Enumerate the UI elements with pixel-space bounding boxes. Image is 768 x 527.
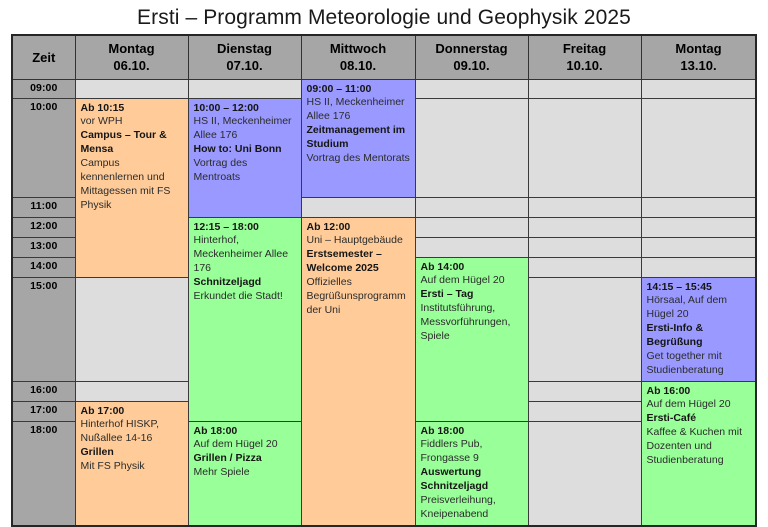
event-place: Auf dem Hügel 20 [194,438,297,452]
event-place: Auf dem Hügel 20 [421,274,524,288]
event-name: Grillen / Pizza [194,452,297,466]
column-header-montag-13: Montag 13.10. [641,35,756,79]
column-header-day-name: Dienstag [190,40,300,58]
event-name: Campus – Tour & Mensa [81,129,184,157]
event-name: Auswertung Schnitzeljagd [421,466,524,494]
event-desc: Vortrag des Mentroats [194,157,297,185]
event-place: vor WPH [81,115,184,129]
column-header-day-date: 08.10. [303,57,414,75]
column-header-day-name: Mittwoch [303,40,414,58]
cell-montag13-0900[interactable] [641,79,756,98]
event-montag06-campustour[interactable]: Ab 10:15 vor WPH Campus – Tour & Mensa C… [75,98,188,277]
event-name: Erstsemester – Welcome 2025 [307,248,411,276]
event-place: Hinterhof, Meckenheimer Allee 176 [194,234,297,276]
event-desc: Kaffee & Kuchen mit Dozenten und Studien… [647,426,752,468]
time-label-0900: 09:00 [12,79,75,98]
event-montag13-ersticafe[interactable]: Ab 16:00 Auf dem Hügel 20 Ersti-Café Kaf… [641,381,756,526]
event-dienstag07-auswertung[interactable]: Ab 18:00 Fiddlers Pub, Frongasse 9 Auswe… [415,421,528,526]
event-time: 14:15 – 15:45 [647,281,752,295]
cell-donnerstag09-1300[interactable] [415,237,528,257]
cell-montag13-1300[interactable] [641,237,756,257]
schedule-page: Ersti – Programm Meteorologie und Geophy… [0,0,768,527]
table-row: 09:00 09:00 – 11:00 HS II, Meckenheimer … [12,79,756,98]
time-label-1600: 16:00 [12,381,75,401]
event-name: Zeitmanagement im Studium [307,124,411,152]
schedule-table: Zeit Montag 06.10. Dienstag 07.10. Mittw… [11,34,757,527]
event-montag06-grillenpizza[interactable]: Ab 18:00 Auf dem Hügel 20 Grillen / Pizz… [188,421,301,526]
event-dienstag07-howtounibonn[interactable]: 10:00 – 12:00 HS II, Meckenheimer Allee … [188,98,301,217]
table-header-row: Zeit Montag 06.10. Dienstag 07.10. Mittw… [12,35,756,79]
event-desc: Offizielles Begrüßunsprogramm der Uni [307,276,411,318]
cell-mittwoch08-1100[interactable] [301,197,415,217]
cell-freitag10-1600[interactable] [528,381,641,401]
event-time: Ab 16:00 [647,385,752,399]
cell-freitag10-1400[interactable] [641,257,756,277]
cell-donnerstag09-1000[interactable] [415,98,528,197]
event-time: 09:00 – 11:00 [307,83,411,97]
time-label-1200: 12:00 [12,217,75,237]
event-time: Ab 12:00 [307,221,411,235]
cell-donnerstag09-1400[interactable] [528,257,641,277]
event-place: Hörsaal, Auf dem Hügel 20 [647,294,752,322]
column-header-montag-06: Montag 06.10. [75,35,188,79]
column-header-day-date: 13.10. [643,57,755,75]
event-place: Auf dem Hügel 20 [647,398,752,412]
cell-montag13-1100[interactable] [641,197,756,217]
event-place: Uni – Hauptgebäude [307,234,411,248]
cell-donnerstag09-1100[interactable] [415,197,528,217]
cell-donnerstag09-0900[interactable] [415,79,528,98]
cell-freitag10-1800[interactable] [528,421,641,526]
time-label-1500: 15:00 [12,277,75,381]
event-desc: Institutsführung, Messvorführungen, Spie… [421,302,524,344]
event-mittwoch-zeitmanagement[interactable]: 09:00 – 11:00 HS II, Meckenheimer Allee … [301,79,415,197]
event-montag06-erstitag[interactable]: Ab 14:00 Auf dem Hügel 20 Ersti – Tag In… [415,257,528,421]
time-label-1800: 18:00 [12,421,75,526]
cell-freitag10-1700[interactable] [528,401,641,421]
column-header-day-date: 10.10. [530,57,640,75]
event-time: Ab 18:00 [194,425,297,439]
event-name: Ersti-Café [647,412,752,426]
column-header-mittwoch-08: Mittwoch 08.10. [301,35,415,79]
cell-freitag10-1000[interactable] [528,98,641,197]
cell-montag13-1000[interactable] [641,98,756,197]
event-name: Grillen [81,446,184,460]
event-desc: Erkundet die Stadt! [194,290,297,304]
column-header-day-date: 07.10. [190,57,300,75]
column-header-day-name: Freitag [530,40,640,58]
cell-donnerstag09-1200[interactable] [415,217,528,237]
time-label-1400: 14:00 [12,257,75,277]
event-time: 12:15 – 18:00 [194,221,297,235]
column-header-dienstag-07: Dienstag 07.10. [188,35,301,79]
column-header-donnerstag-09: Donnerstag 09.10. [415,35,528,79]
event-montag13-erstiinfo[interactable]: 14:15 – 15:45 Hörsaal, Auf dem Hügel 20 … [641,277,756,381]
column-header-day-date: 06.10. [77,57,187,75]
cell-montag13-1200[interactable] [641,217,756,237]
event-name: Ersti-Info & Begrüßung [647,322,752,350]
cell-freitag10-0900[interactable] [528,79,641,98]
event-name: Schnitzeljagd [194,276,297,290]
event-mittwoch08-erstsemesterwelcome[interactable]: Ab 12:00 Uni – Hauptgebäude Erstsemester… [301,217,415,526]
event-place: HS II, Meckenheimer Allee 176 [194,115,297,143]
event-time: Ab 10:15 [81,102,184,116]
event-time: Ab 14:00 [421,261,524,275]
event-name: How to: Uni Bonn [194,143,297,157]
event-desc: Mehr Spiele [194,466,297,480]
event-place: Fiddlers Pub, Frongasse 9 [421,438,524,466]
column-header-zeit: Zeit [12,35,75,79]
column-header-day-name: Donnerstag [417,40,527,58]
cell-freitag10-1200[interactable] [528,217,641,237]
cell-freitag10-1100[interactable] [528,197,641,217]
cell-freitag10-1500[interactable] [528,277,641,381]
column-header-zeit-label: Zeit [14,49,74,67]
event-time: Ab 17:00 [81,405,184,419]
event-dienstag07-schnitzeljagd[interactable]: 12:15 – 18:00 Hinterhof, Meckenheimer Al… [188,217,301,421]
event-time: 10:00 – 12:00 [194,102,297,116]
event-desc: Campus kennenlernen und Mittagessen mit … [81,157,184,212]
event-desc: Preisverleihung, Kneipenabend [421,494,524,522]
event-donnerstag09-grillen[interactable]: Ab 17:00 Hinterhof HISKP, Nußallee 14-16… [75,401,188,526]
column-header-day-date: 09.10. [417,57,527,75]
time-label-1300: 13:00 [12,237,75,257]
event-place: HS II, Meckenheimer Allee 176 [307,96,411,124]
time-label-1000: 10:00 [12,98,75,197]
event-place: Hinterhof HISKP, Nußallee 14-16 [81,418,184,446]
time-label-1700: 17:00 [12,401,75,421]
page-title: Ersti – Programm Meteorologie und Geophy… [0,0,768,34]
event-time: Ab 18:00 [421,425,524,439]
event-desc: Get together mit Studienberatung [647,350,752,378]
cell-montag06-0900[interactable] [75,79,188,98]
cell-donnerstag09-1500[interactable] [75,277,188,381]
event-name: Ersti – Tag [421,288,524,302]
column-header-day-name: Montag [643,40,755,58]
event-desc: Mit FS Physik [81,460,184,474]
column-header-day-name: Montag [77,40,187,58]
time-label-1100: 11:00 [12,197,75,217]
cell-dienstag07-0900[interactable] [188,79,301,98]
cell-freitag10-1300[interactable] [528,237,641,257]
cell-donnerstag09-1600[interactable] [75,381,188,401]
column-header-freitag-10: Freitag 10.10. [528,35,641,79]
event-desc: Vortrag des Mentorats [307,152,411,166]
